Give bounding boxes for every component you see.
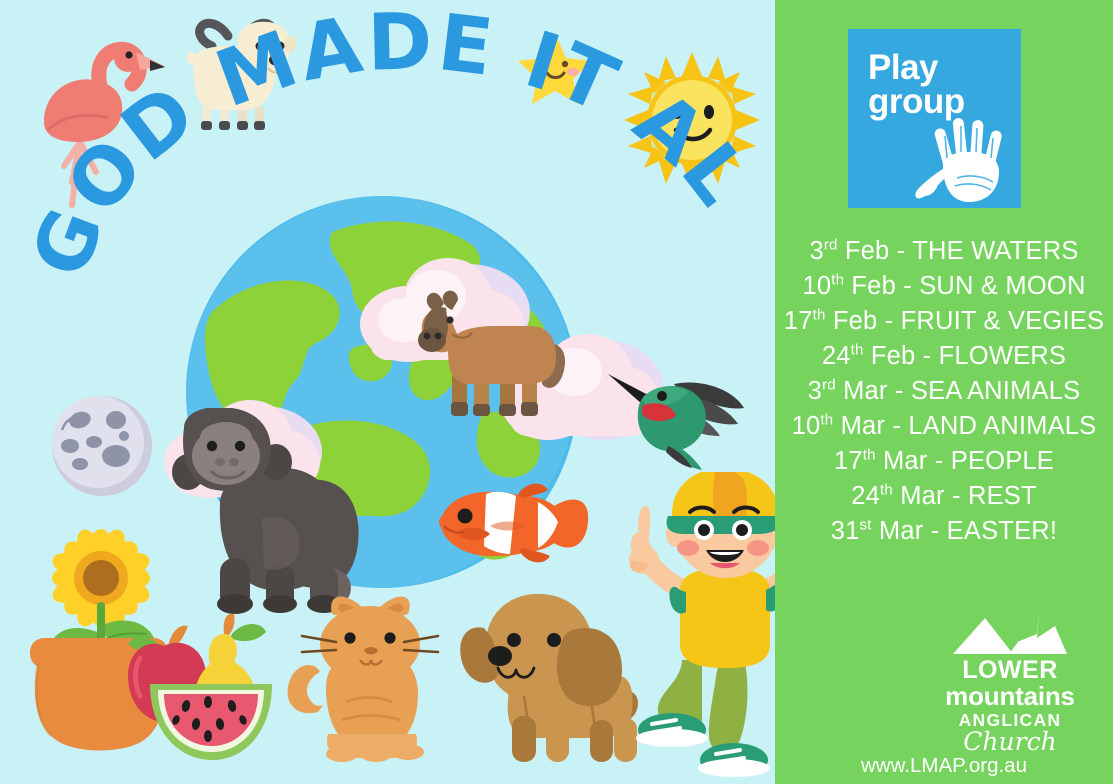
schedule-item-suffix: th [863,447,876,464]
schedule-item-topic: Feb - FLOWERS [864,342,1067,370]
schedule-item-day: 24 [822,342,851,370]
church-logo-line1: LOWER [930,658,1090,683]
schedule-item: 10th Feb - SUN & MOON [775,269,1113,304]
schedule-item-topic: Mar - SEA ANIMALS [836,377,1081,405]
church-logo: LOWER mountains ANGLICAN Church [930,612,1090,756]
schedule-item-suffix: th [820,412,833,429]
hummingbird-icon [606,350,746,472]
poster: GOD MADE IT ALL! Play group [0,0,1113,784]
playgroup-logo: Play group [848,29,1021,208]
church-logo-line4: Church [930,728,1090,757]
schedule-item-topic: Feb - THE WATERS [838,237,1079,265]
schedule-item-suffix: rd [824,237,838,254]
schedule-item-suffix: th [851,342,864,359]
schedule-item-day: 10 [802,272,831,300]
schedule-item-suffix: th [831,272,844,289]
goat-icon [176,18,296,140]
flamingo-icon [28,30,168,225]
cat-icon [280,592,460,772]
playgroup-logo-line1: Play [868,51,965,85]
schedule-list: 3rd Feb - THE WATERS10th Feb - SUN & MOO… [775,234,1113,549]
schedule-item: 3rd Mar - SEA ANIMALS [775,374,1113,409]
schedule-item-day: 24 [851,482,880,510]
schedule-item-suffix: th [880,482,893,499]
schedule-item: 24th Mar - REST [775,479,1113,514]
schedule-item-topic: Mar - PEOPLE [876,447,1054,475]
sun-icon [624,52,760,188]
schedule-item-topic: Mar - REST [893,482,1037,510]
schedule-item: 24th Feb - FLOWERS [775,339,1113,374]
schedule-item-topic: Mar - LAND ANIMALS [833,412,1096,440]
schedule-item: 17th Feb - FRUIT & VEGIES [775,304,1113,339]
mountain-icon [951,612,1069,656]
horse-icon [414,288,574,424]
star-icon [516,30,594,106]
clownfish-icon [432,472,592,576]
gorilla-icon [158,408,368,618]
schedule-item-suffix: rd [822,377,836,394]
watermelon-icon [146,674,276,764]
schedule-item-day: 31 [831,517,860,545]
website-url[interactable]: www.LMAP.org.au [775,754,1113,778]
schedule-item: 31st Mar - EASTER! [775,514,1113,549]
dog-icon [450,588,646,768]
schedule-item-day: 17 [834,447,863,475]
schedule-item-topic: Feb - SUN & MOON [844,272,1085,300]
schedule-item-suffix: th [813,307,826,324]
schedule-item: 17th Mar - PEOPLE [775,444,1113,479]
moon-icon [50,394,154,498]
schedule-item-day: 3 [808,377,822,405]
schedule-item: 3rd Feb - THE WATERS [775,234,1113,269]
schedule-item-topic: Mar - EASTER! [872,517,1058,545]
handprint-icon [911,102,1015,206]
church-logo-line2: mountains [930,683,1090,710]
schedule-item: 10th Mar - LAND ANIMALS [775,409,1113,444]
schedule-item-day: 3 [809,237,823,265]
schedule-item-suffix: st [860,517,872,534]
schedule-item-day: 10 [792,412,821,440]
schedule-item-topic: Feb - FRUIT & VEGIES [826,307,1105,335]
schedule-item-day: 17 [784,307,813,335]
